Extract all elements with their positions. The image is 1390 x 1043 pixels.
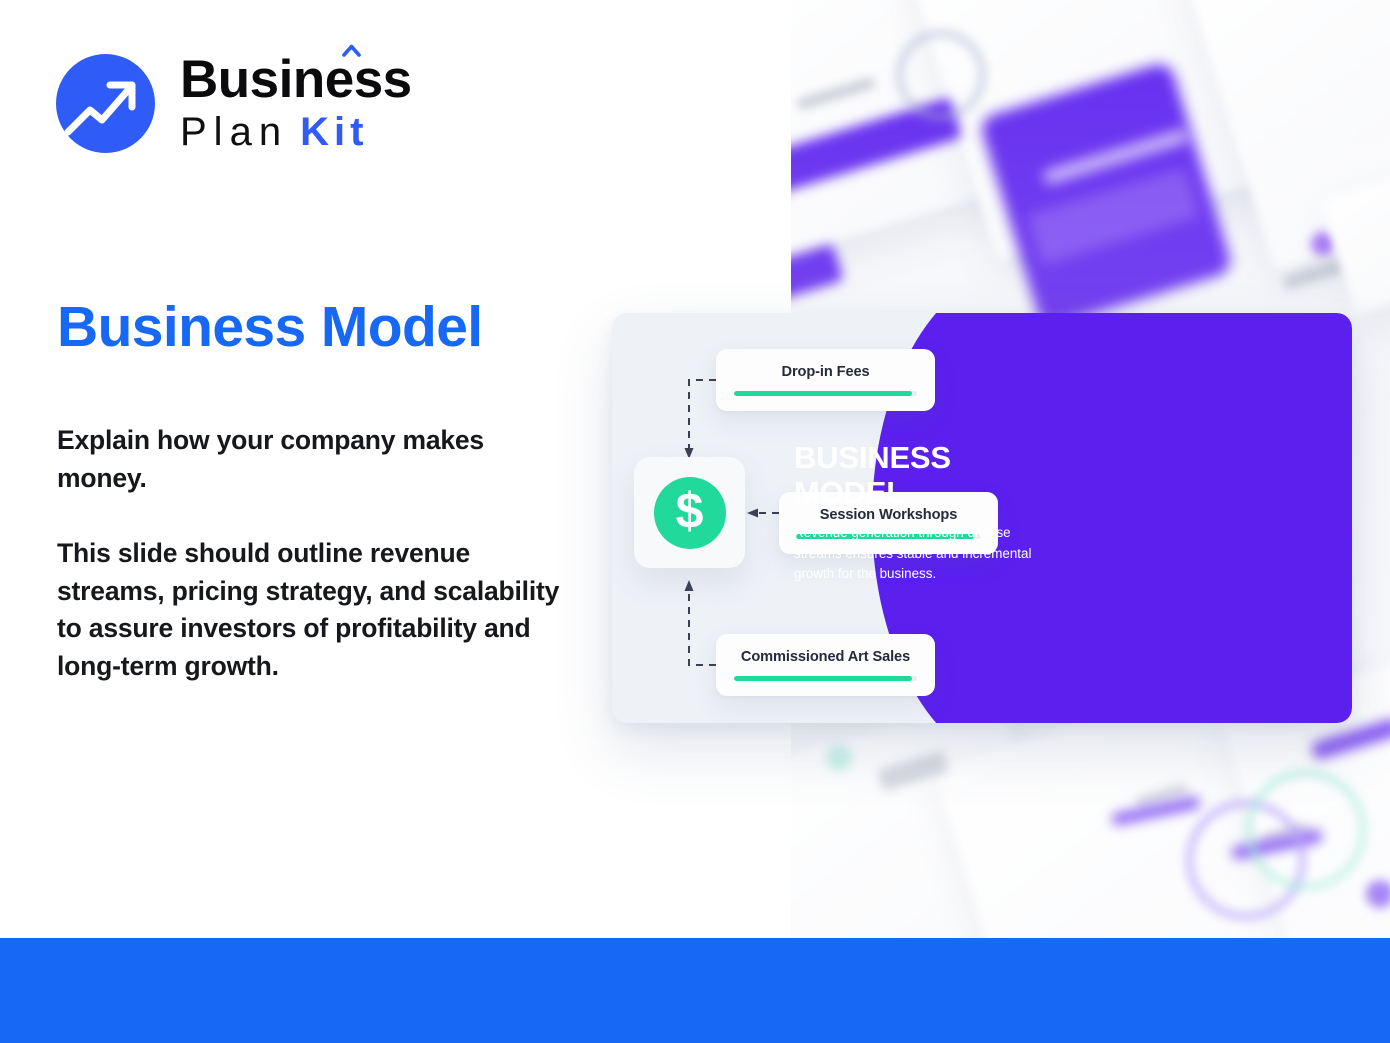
logo-kit-text: Kit [300,110,368,154]
revenue-stream-card[interactable]: Drop-in Fees [716,349,935,411]
highlight-panel-content: BUSINESS MODEL Revenue generation throug… [794,441,1054,585]
logo-business-text: Business [180,50,412,109]
body-paragraph-2: This slide should outline revenue stream… [57,535,577,686]
page-title: Business Model [57,297,483,357]
revenue-stream-progress-fill [734,676,912,681]
highlight-title-line-2: MODEL [794,476,1054,511]
logo-plan-text: Plan [180,110,288,154]
highlight-description: Revenue generation through diverse strea… [794,523,1042,585]
revenue-stream-progress-fill [734,391,912,396]
revenue-stream-card[interactable]: Commissioned Art Sales [716,634,935,696]
highlight-title: BUSINESS MODEL [794,441,1054,510]
slide-canvas: Business PlanKit Business Model Explain … [0,0,1390,1043]
revenue-stream-progress-track [734,676,917,681]
brand-logo[interactable]: Business PlanKit [56,53,412,153]
slide-preview-card[interactable]: BUSINESS MODEL Revenue generation throug… [612,313,1352,723]
growth-chart-arrow-icon [56,54,155,153]
highlight-title-line-1: BUSINESS [794,441,1054,476]
body-paragraph-1: Explain how your company makes money. [57,422,577,497]
revenue-stream-label: Drop-in Fees [782,364,870,380]
dollar-sign-icon: $ [654,477,726,549]
revenue-center-node[interactable]: $ [634,457,745,568]
logo-wordmark-line-2: PlanKit [180,111,412,153]
footer-accent-bar [0,938,1390,1043]
logo-wordmark-line-1: Business [180,53,412,106]
logo-chevron-accent-icon [342,44,361,57]
revenue-stream-progress-track [734,391,917,396]
business-model-highlight-panel [1022,313,1352,723]
revenue-stream-label: Commissioned Art Sales [741,649,910,665]
